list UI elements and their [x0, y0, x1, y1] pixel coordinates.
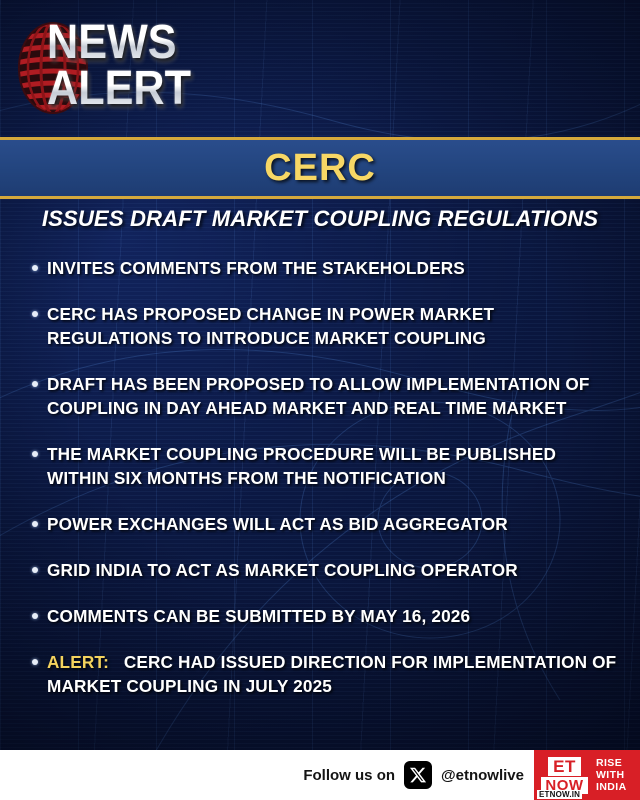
social-handle[interactable]: @etnowlive	[441, 767, 524, 784]
list-item: GRID INDIA TO ACT AS MARKET COUPLING OPE…	[22, 558, 622, 582]
subheadline: ISSUES DRAFT MARKET COUPLING REGULATIONS	[5, 206, 635, 232]
etnow-tagline: RISE WITH INDIA	[592, 757, 627, 793]
bullet-dot-icon	[32, 567, 38, 573]
etnow-logo-et: ET	[548, 757, 581, 776]
list-item: CERC HAS PROPOSED CHANGE IN POWER MARKET…	[22, 302, 622, 350]
logo-line-news: NEWS	[47, 20, 191, 66]
bullet-text: CERC HAS PROPOSED CHANGE IN POWER MARKET…	[47, 304, 494, 348]
x-twitter-icon[interactable]	[404, 761, 432, 789]
footer: Follow us on @etnowlive ET NOW ETNOW.IN …	[0, 750, 640, 800]
bullet-text: CERC HAD ISSUED DIRECTION FOR IMPLEMENTA…	[47, 652, 616, 696]
bullet-text: THE MARKET COUPLING PROCEDURE WILL BE PU…	[47, 444, 556, 488]
bullet-text: POWER EXCHANGES WILL ACT AS BID AGGREGAT…	[47, 514, 508, 534]
bullet-text: COMMENTS CAN BE SUBMITTED BY MAY 16, 202…	[47, 606, 470, 626]
alert-label: ALERT:	[47, 652, 109, 672]
bullet-dot-icon	[32, 521, 38, 527]
title-band: CERC	[0, 137, 640, 199]
list-item: DRAFT HAS BEEN PROPOSED TO ALLOW IMPLEME…	[22, 372, 622, 420]
bullet-dot-icon	[32, 381, 38, 387]
bullet-list: INVITES COMMENTS FROM THE STAKEHOLDERS C…	[22, 256, 622, 720]
logo-line-alert: ALERT	[47, 66, 191, 112]
header: NEWS ALERT	[0, 0, 640, 134]
bullet-dot-icon	[32, 311, 38, 317]
bullet-text: DRAFT HAS BEEN PROPOSED TO ALLOW IMPLEME…	[47, 374, 590, 418]
news-alert-logo: NEWS ALERT	[47, 20, 207, 112]
list-item: COMMENTS CAN BE SUBMITTED BY MAY 16, 202…	[22, 604, 622, 628]
news-alert-card: NEWS ALERT CERC ISSUES DRAFT MARKET COUP…	[0, 0, 640, 800]
list-item: INVITES COMMENTS FROM THE STAKEHOLDERS	[22, 256, 622, 280]
bullet-text: GRID INDIA TO ACT AS MARKET COUPLING OPE…	[47, 560, 518, 580]
etnow-logo-url: ETNOW.IN	[537, 790, 582, 799]
etnow-logo[interactable]: ET NOW ETNOW.IN RISE WITH INDIA	[534, 750, 640, 800]
list-item-alert: ALERT: CERC HAD ISSUED DIRECTION FOR IMP…	[22, 650, 622, 698]
bullet-dot-icon	[32, 451, 38, 457]
tagline-line-2: WITH	[596, 769, 627, 781]
bullet-dot-icon	[32, 265, 38, 271]
follow-us-group: Follow us on @etnowlive	[303, 761, 524, 789]
follow-label: Follow us on	[303, 767, 395, 784]
list-item: POWER EXCHANGES WILL ACT AS BID AGGREGAT…	[22, 512, 622, 536]
bullet-dot-icon	[32, 659, 38, 665]
tagline-line-3: INDIA	[596, 781, 627, 793]
list-item: THE MARKET COUPLING PROCEDURE WILL BE PU…	[22, 442, 622, 490]
bullet-text: INVITES COMMENTS FROM THE STAKEHOLDERS	[47, 258, 465, 278]
bullet-dot-icon	[32, 613, 38, 619]
tagline-line-1: RISE	[596, 757, 627, 769]
page-title: CERC	[264, 147, 376, 190]
